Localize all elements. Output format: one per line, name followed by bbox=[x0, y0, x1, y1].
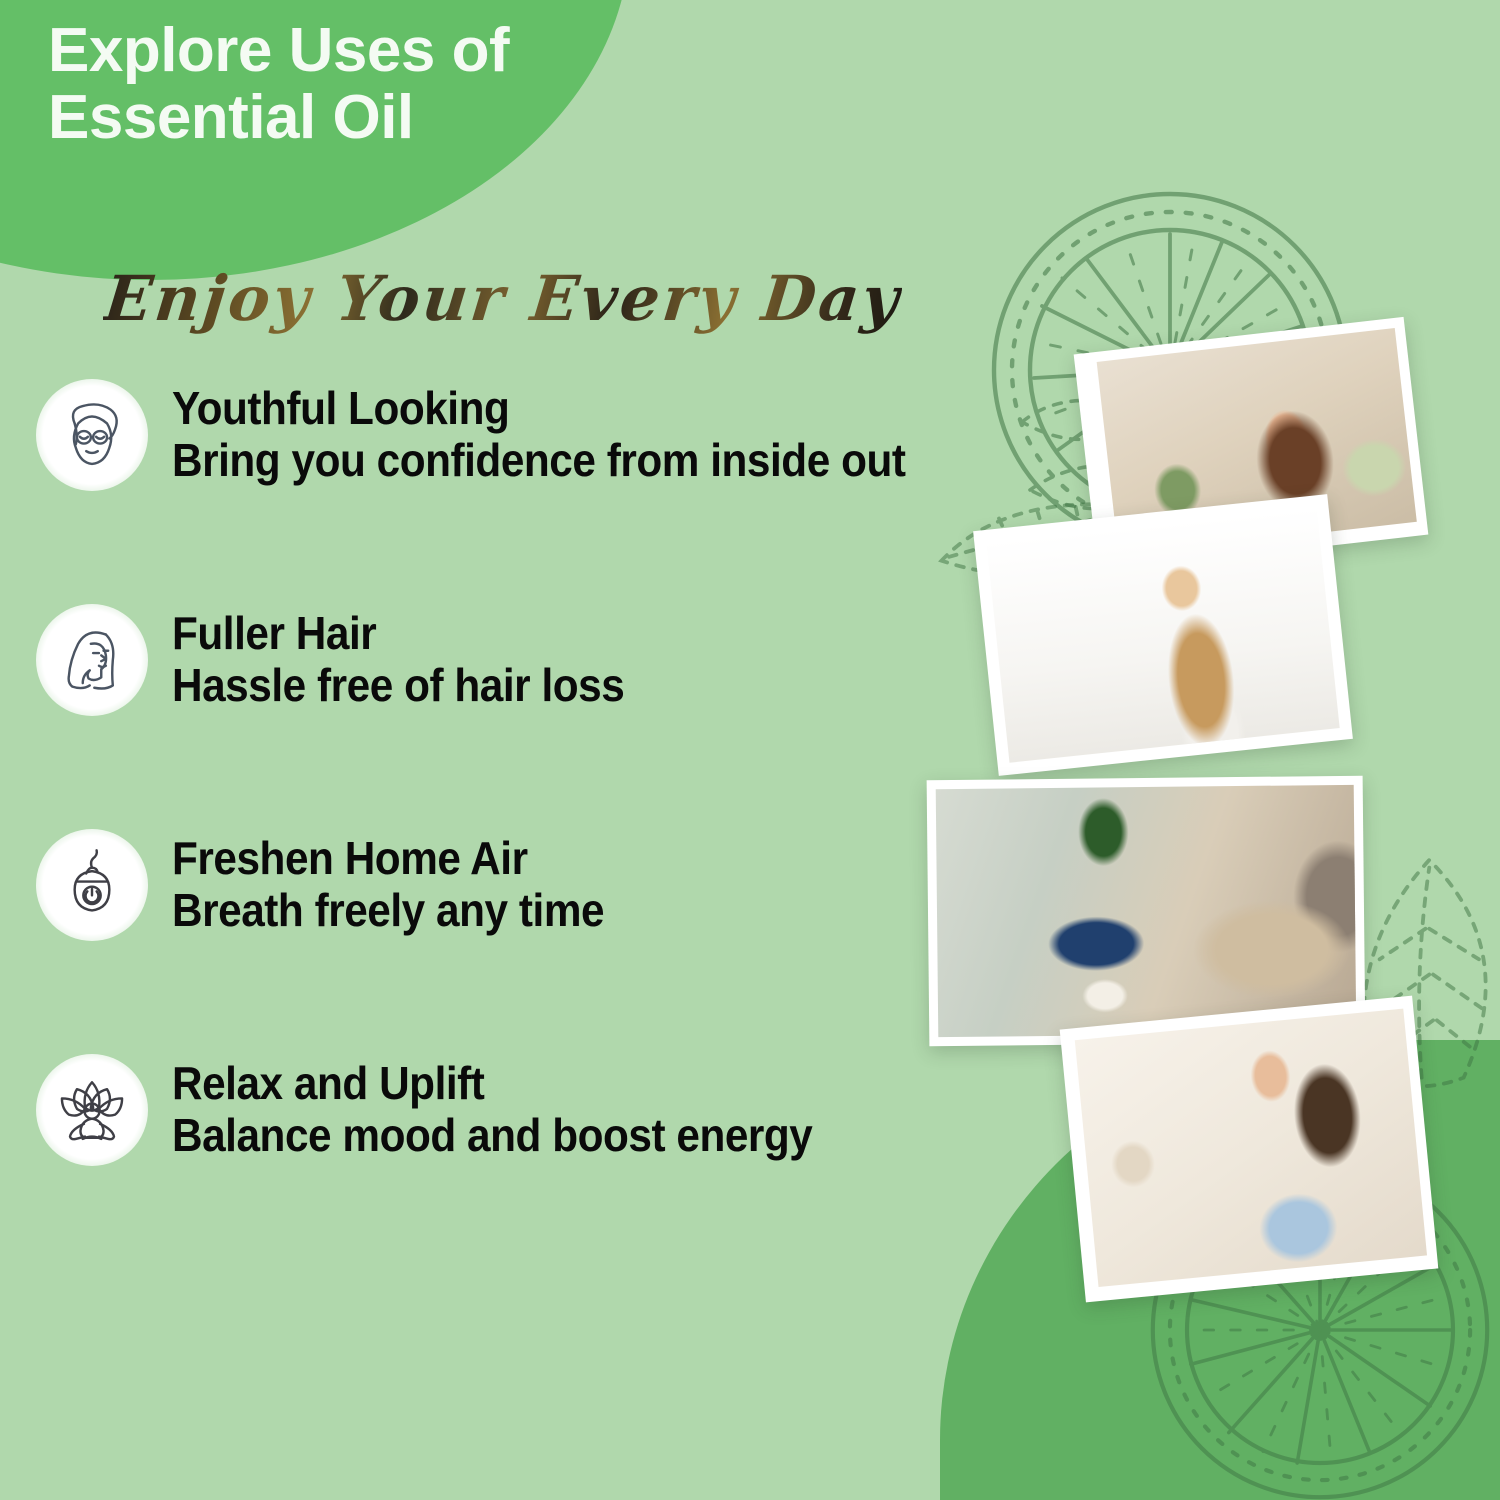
poster-canvas: Explore Uses of Essential Oil Enjoy Your… bbox=[0, 0, 1500, 1500]
feature-text: Fuller Hair Hassle free of hair loss bbox=[172, 608, 1080, 711]
feature-text: Youthful Looking Bring you confidence fr… bbox=[172, 383, 1080, 486]
feature-subtitle: Balance mood and boost energy bbox=[172, 1110, 1007, 1162]
page-title: Explore Uses of Essential Oil bbox=[48, 18, 509, 152]
tagline-script: Enjoy Your Every Day bbox=[101, 262, 905, 335]
feature-title: Fuller Hair bbox=[172, 608, 1007, 660]
photo-image bbox=[1075, 1009, 1427, 1287]
facial-mask-icon bbox=[36, 379, 148, 491]
feature-list: Youthful Looking Bring you confidence fr… bbox=[0, 376, 1080, 1169]
feature-item-relax-and-uplift: Relax and Uplift Balance mood and boost … bbox=[0, 1051, 1080, 1169]
feature-title: Relax and Uplift bbox=[172, 1058, 1007, 1110]
aroma-diffuser-icon bbox=[36, 829, 148, 941]
long-hair-profile-icon bbox=[36, 604, 148, 716]
feature-item-youthful-looking: Youthful Looking Bring you confidence fr… bbox=[0, 376, 1080, 494]
lotus-meditation-icon bbox=[36, 1054, 148, 1166]
photo-perfume-woman bbox=[1060, 996, 1439, 1303]
feature-title: Freshen Home Air bbox=[172, 833, 1007, 885]
feature-subtitle: Hassle free of hair loss bbox=[172, 660, 1007, 712]
feature-subtitle: Breath freely any time bbox=[172, 885, 1007, 937]
feature-text: Freshen Home Air Breath freely any time bbox=[172, 833, 1080, 936]
feature-title: Youthful Looking bbox=[172, 383, 1007, 435]
feature-text: Relax and Uplift Balance mood and boost … bbox=[172, 1058, 1080, 1161]
feature-item-fuller-hair: Fuller Hair Hassle free of hair loss bbox=[0, 601, 1080, 719]
feature-subtitle: Bring you confidence from inside out bbox=[172, 435, 1007, 487]
feature-item-freshen-home-air: Freshen Home Air Breath freely any time bbox=[0, 826, 1080, 944]
